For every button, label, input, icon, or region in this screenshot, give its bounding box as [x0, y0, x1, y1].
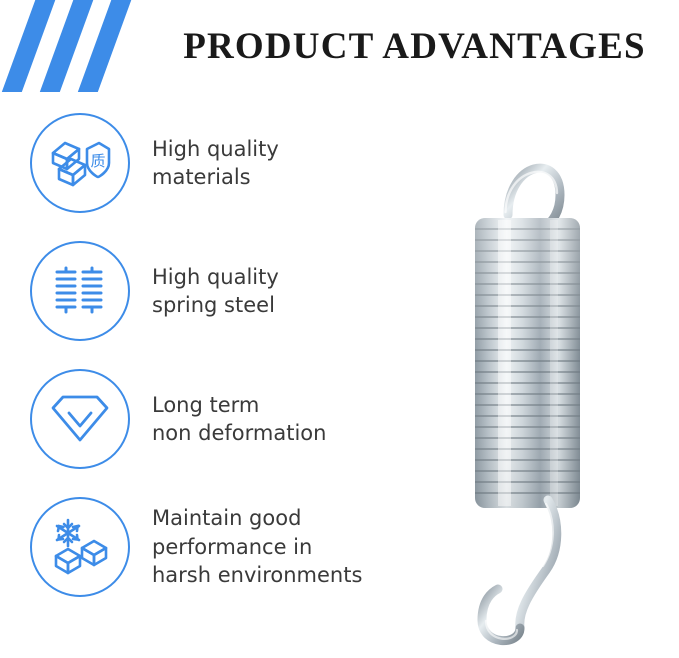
- product-advantages-page: PRODUCT ADVANTAGES 质: [0, 0, 679, 658]
- feature-label-line: High quality: [152, 263, 279, 291]
- feature-label: High quality spring steel: [152, 263, 279, 320]
- feature-list: 质 High quality materials: [30, 108, 370, 620]
- svg-text:质: 质: [90, 152, 105, 170]
- feature-label-line: spring steel: [152, 291, 279, 319]
- feature-label: High quality materials: [152, 135, 279, 192]
- snowflake-ice-icon: [30, 497, 130, 597]
- feature-label-line: performance in: [152, 533, 362, 561]
- diamond-icon: [30, 369, 130, 469]
- feature-label-line: High quality: [152, 135, 279, 163]
- feature-label-line: materials: [152, 163, 279, 191]
- feature-item: 质 High quality materials: [30, 108, 370, 218]
- feature-label-line: Maintain good: [152, 504, 362, 532]
- feature-label-line: harsh environments: [152, 561, 362, 589]
- quality-materials-icon: 质: [30, 113, 130, 213]
- feature-label-line: non deformation: [152, 419, 326, 447]
- extension-spring-photo: [400, 100, 670, 650]
- header-stripes: [0, 0, 160, 92]
- header: PRODUCT ADVANTAGES: [0, 0, 679, 92]
- feature-item: Maintain good performance in harsh envir…: [30, 492, 370, 602]
- feature-label-line: Long term: [152, 391, 326, 419]
- page-title: PRODUCT ADVANTAGES: [150, 0, 679, 92]
- feature-label: Long term non deformation: [152, 391, 326, 448]
- feature-label: Maintain good performance in harsh envir…: [152, 504, 362, 589]
- feature-item: High quality spring steel: [30, 236, 370, 346]
- feature-item: Long term non deformation: [30, 364, 370, 474]
- spring-coils-icon: [30, 241, 130, 341]
